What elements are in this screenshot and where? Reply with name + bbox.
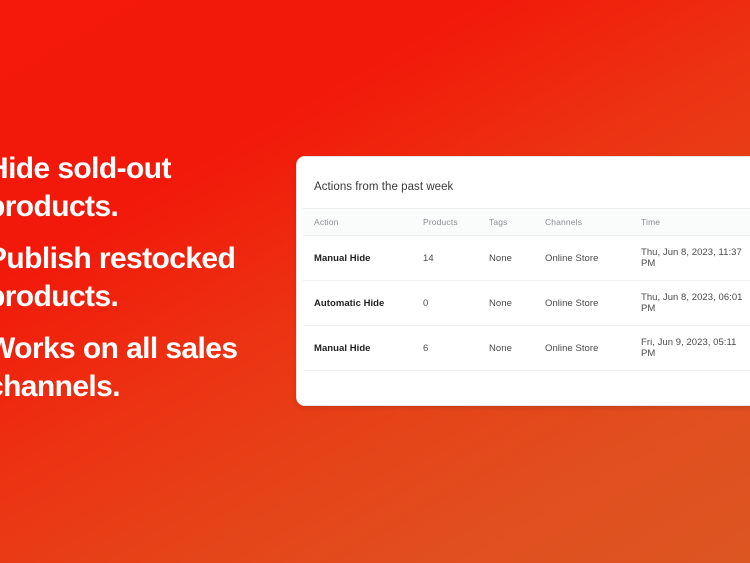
cell-time: Fri, Jun 9, 2023, 05:11 PM [641,326,750,371]
cell-channels: Online Store [545,281,641,326]
table-empty-area [303,371,750,399]
cell-action: Manual Hide [303,326,423,371]
cell-time: Thu, Jun 8, 2023, 11:37 PM [641,236,750,281]
headline-block: Hide sold-out products. Publish restocke… [0,150,287,406]
headline-line-1: Hide sold-out products. [0,150,287,226]
cell-action: Automatic Hide [303,281,423,326]
actions-card: Actions from the past week Action Produc… [296,156,750,406]
table-body: Manual Hide 14 None Online Store Thu, Ju… [303,236,750,371]
column-header-action[interactable]: Action [303,209,423,236]
cell-channels: Online Store [545,236,641,281]
table-header-row: Action Products Tags Channels Time [303,209,750,236]
table-row[interactable]: Manual Hide 6 None Online Store Fri, Jun… [303,326,750,371]
card-title: Actions from the past week [303,163,750,208]
headline-line-3: Works on all sales channels. [0,330,287,406]
promo-canvas: Hide sold-out products. Publish restocke… [0,0,750,563]
column-header-channels[interactable]: Channels [545,209,641,236]
cell-tags: None [489,281,545,326]
cell-tags: None [489,236,545,281]
column-header-products[interactable]: Products [423,209,489,236]
actions-table: Action Products Tags Channels Time Manua… [303,208,750,371]
cell-time: Thu, Jun 8, 2023, 06:01 PM [641,281,750,326]
column-header-tags[interactable]: Tags [489,209,545,236]
cell-products: 0 [423,281,489,326]
cell-action: Manual Hide [303,236,423,281]
table-row[interactable]: Manual Hide 14 None Online Store Thu, Ju… [303,236,750,281]
actions-card-inner: Actions from the past week Action Produc… [303,163,750,399]
column-header-time[interactable]: Time [641,209,750,236]
table-row[interactable]: Automatic Hide 0 None Online Store Thu, … [303,281,750,326]
cell-tags: None [489,326,545,371]
cell-products: 6 [423,326,489,371]
cell-channels: Online Store [545,326,641,371]
cell-products: 14 [423,236,489,281]
table-header: Action Products Tags Channels Time [303,209,750,236]
headline-line-2: Publish restocked products. [0,240,287,316]
